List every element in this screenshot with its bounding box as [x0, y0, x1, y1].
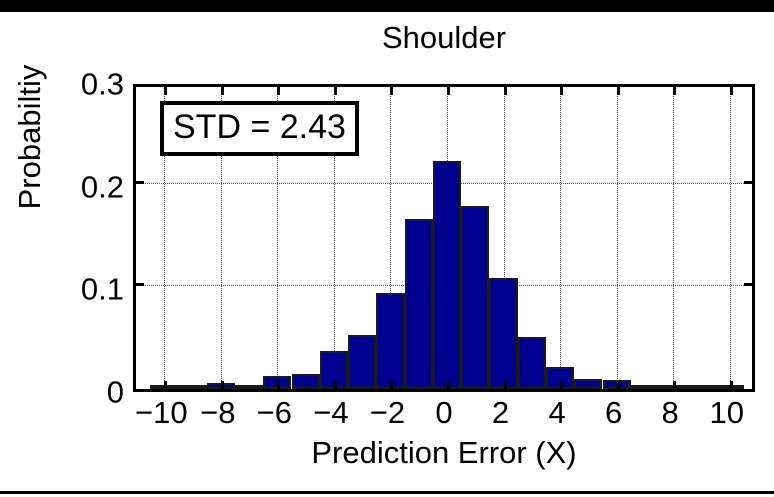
gridline-vertical	[730, 87, 731, 389]
bottom-black-band	[0, 491, 774, 494]
x-tick-label: −6	[257, 396, 292, 430]
x-tick-mark	[221, 381, 224, 389]
x-tick-mark	[560, 381, 563, 389]
histogram-bar	[376, 293, 404, 390]
x-tick-mark	[673, 381, 676, 389]
std-annotation-box: STD = 2.43	[160, 101, 359, 156]
x-tick-mark-top	[447, 87, 450, 95]
histogram-bar	[405, 219, 433, 389]
x-tick-label: 4	[548, 396, 565, 430]
x-tick-mark	[334, 381, 337, 389]
x-tick-mark	[164, 381, 167, 389]
x-tick-mark	[447, 381, 450, 389]
gridline-vertical	[617, 87, 618, 389]
x-tick-label: −4	[313, 396, 348, 430]
x-tick-mark-top	[164, 87, 167, 95]
x-tick-label: 0	[435, 396, 452, 430]
y-tick-label: 0.1	[0, 274, 124, 305]
x-tick-mark	[277, 381, 280, 389]
x-tick-mark-top	[617, 87, 620, 95]
histogram-figure: Shoulder Probabiltiy STD = 2.43 00.10.20…	[0, 12, 774, 491]
x-tick-label: 2	[492, 396, 509, 430]
x-tick-label: −10	[135, 396, 188, 430]
histogram-bar	[433, 161, 461, 389]
plot-area: STD = 2.43	[133, 84, 755, 392]
x-tick-mark-top	[730, 87, 733, 95]
y-tick-mark	[136, 283, 144, 286]
histogram-bar	[461, 206, 489, 389]
gridline-vertical	[673, 87, 674, 389]
gridline-vertical	[560, 87, 561, 389]
x-tick-label: 6	[605, 396, 622, 430]
histogram-bar	[292, 374, 320, 389]
histogram-bar	[178, 385, 206, 389]
histogram-bar	[687, 385, 715, 389]
x-tick-mark-top	[504, 87, 507, 95]
x-tick-mark	[504, 381, 507, 389]
histogram-bar	[489, 278, 517, 389]
x-tick-mark-top	[334, 87, 337, 95]
y-axis-label: Probabiltiy	[10, 12, 50, 262]
x-tick-mark-top	[560, 87, 563, 95]
x-tick-mark	[390, 381, 393, 389]
histogram-bar	[348, 335, 376, 389]
y-axis-label-container: Probabiltiy	[10, 12, 50, 262]
x-tick-label: 8	[662, 396, 679, 430]
x-tick-mark	[617, 381, 620, 389]
y-tick-label: 0.2	[0, 171, 124, 202]
y-tick-label: 0.3	[0, 69, 124, 100]
x-tick-label: −8	[200, 396, 235, 430]
x-tick-label: 10	[709, 396, 743, 430]
histogram-bar	[631, 385, 659, 389]
x-tick-label: −2	[370, 396, 405, 430]
y-tick-mark-right	[744, 181, 752, 184]
chart-title: Shoulder	[133, 20, 755, 56]
x-tick-mark-top	[390, 87, 393, 95]
histogram-bar	[518, 337, 546, 389]
histogram-bar	[235, 385, 263, 389]
y-tick-mark-right	[744, 283, 752, 286]
screenshot-canvas: Shoulder Probabiltiy STD = 2.43 00.10.20…	[0, 0, 774, 497]
histogram-bar	[574, 379, 602, 389]
x-tick-mark-top	[277, 87, 280, 95]
top-black-band	[0, 0, 774, 12]
x-tick-mark-top	[673, 87, 676, 95]
x-tick-mark	[730, 381, 733, 389]
y-tick-label: 0	[0, 377, 124, 408]
x-tick-mark-top	[221, 87, 224, 95]
std-annotation-label: STD = 2.43	[173, 107, 346, 147]
x-axis-label: Prediction Error (X)	[133, 435, 755, 471]
y-tick-mark	[136, 181, 144, 184]
